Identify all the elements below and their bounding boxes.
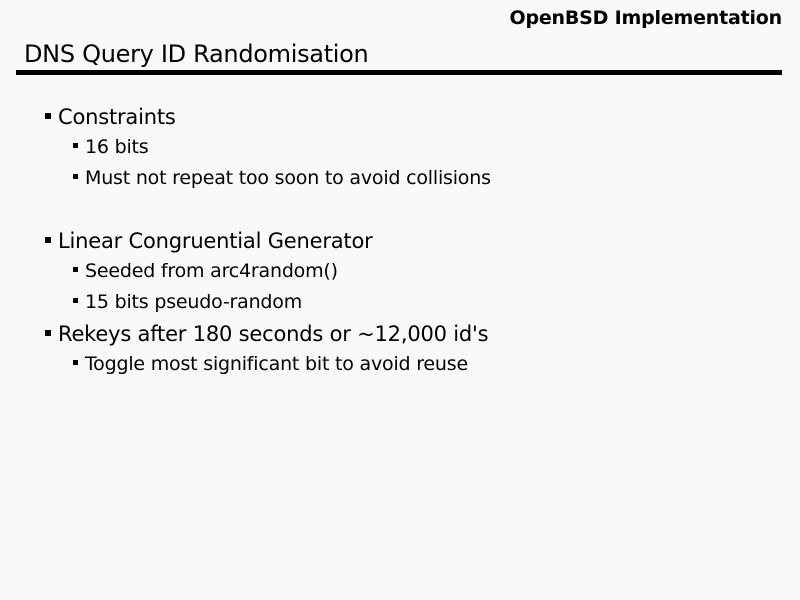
list-item: Must not repeat too soon to avoid collis…: [0, 166, 800, 197]
square-bullet-icon: [45, 330, 51, 336]
slide: OpenBSD Implementation DNS Query ID Rand…: [0, 0, 800, 600]
list-item-label: Linear Congruential Generator: [58, 228, 373, 254]
list-item-label: Constraints: [58, 104, 176, 130]
square-bullet-icon: [73, 298, 78, 303]
list-item-label: Rekeys after 180 seconds or ~12,000 id's: [58, 321, 488, 347]
square-bullet-icon: [45, 113, 51, 119]
square-bullet-icon: [73, 360, 78, 365]
bullet-list: Constraints 16 bits Must not repeat too …: [0, 104, 800, 383]
square-bullet-icon: [73, 267, 78, 272]
list-item: Toggle most significant bit to avoid reu…: [0, 352, 800, 383]
header-subtitle: OpenBSD Implementation: [510, 7, 782, 29]
title-divider: [16, 70, 782, 75]
list-item: Constraints: [0, 104, 800, 135]
square-bullet-icon: [45, 237, 51, 243]
list-item: Seeded from arc4random(): [0, 259, 800, 290]
list-item-label: 16 bits: [85, 135, 149, 160]
square-bullet-icon: [73, 174, 78, 179]
page-title: DNS Query ID Randomisation: [24, 40, 782, 68]
list-item: Linear Congruential Generator: [0, 228, 800, 259]
list-item: 15 bits pseudo-random: [0, 290, 800, 321]
square-bullet-icon: [73, 143, 78, 148]
slide-header: OpenBSD Implementation: [510, 7, 782, 29]
list-item-label: 15 bits pseudo-random: [85, 290, 302, 315]
slide-title-container: DNS Query ID Randomisation: [24, 40, 782, 68]
list-item: 16 bits: [0, 135, 800, 166]
list-spacer: [0, 197, 800, 228]
list-item-label: Seeded from arc4random(): [85, 259, 338, 284]
list-item-label: Toggle most significant bit to avoid reu…: [85, 352, 468, 377]
list-item-label: Must not repeat too soon to avoid collis…: [85, 166, 491, 191]
list-item: Rekeys after 180 seconds or ~12,000 id's: [0, 321, 800, 352]
